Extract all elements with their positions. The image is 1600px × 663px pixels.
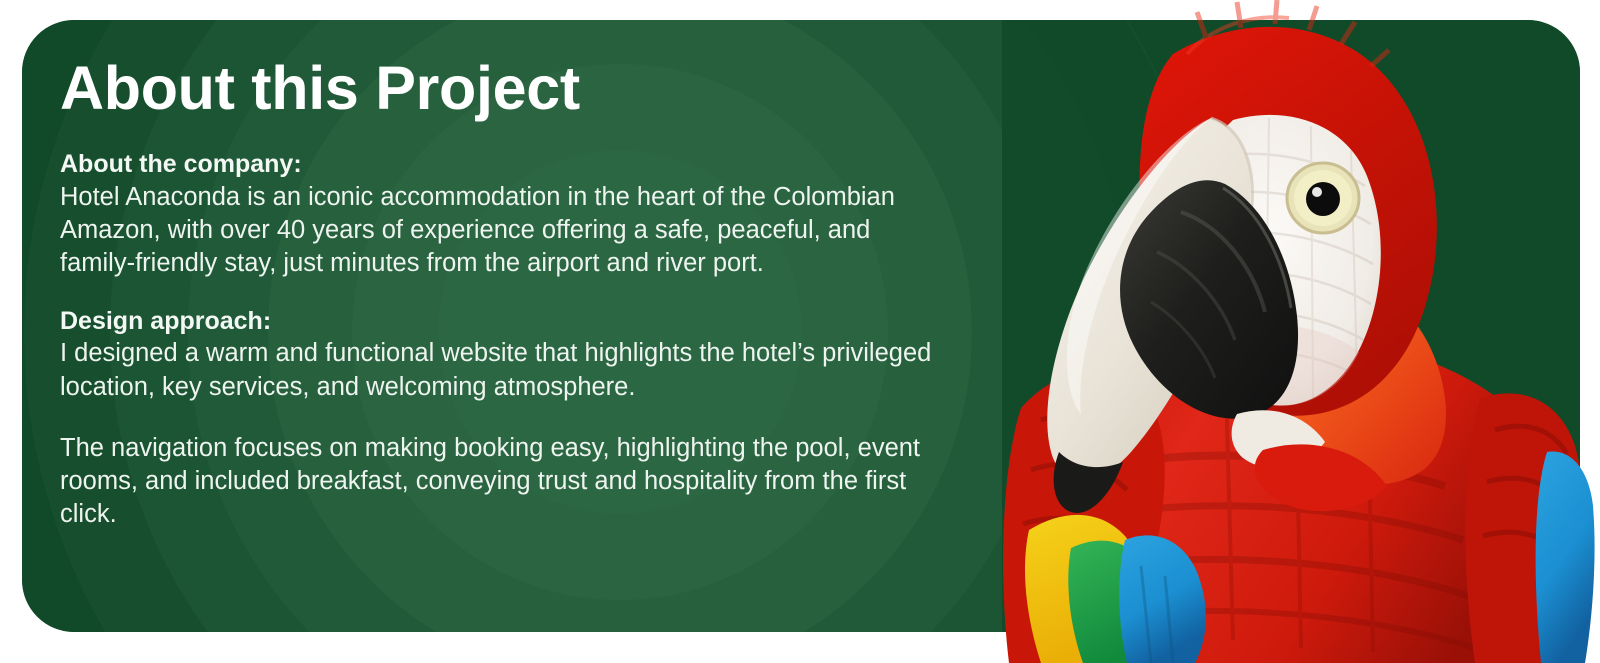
card-text-column: About this Project About the company: Ho… bbox=[60, 58, 940, 531]
section-body: The navigation focuses on making booking… bbox=[60, 432, 940, 531]
page-title: About this Project bbox=[60, 58, 940, 119]
section-body: I designed a warm and functional website… bbox=[60, 337, 940, 403]
section-about-company: About the company: Hotel Anaconda is an … bbox=[60, 149, 940, 280]
section-body: Hotel Anaconda is an iconic accommodatio… bbox=[60, 181, 940, 280]
section-heading: Design approach: bbox=[60, 306, 940, 337]
section-navigation: The navigation focuses on making booking… bbox=[60, 432, 940, 531]
section-heading: About the company: bbox=[60, 149, 940, 180]
slide-canvas: About this Project About the company: Ho… bbox=[0, 0, 1600, 663]
scarlet-macaw-photo bbox=[975, 0, 1600, 663]
section-design-approach: Design approach: I designed a warm and f… bbox=[60, 306, 940, 404]
